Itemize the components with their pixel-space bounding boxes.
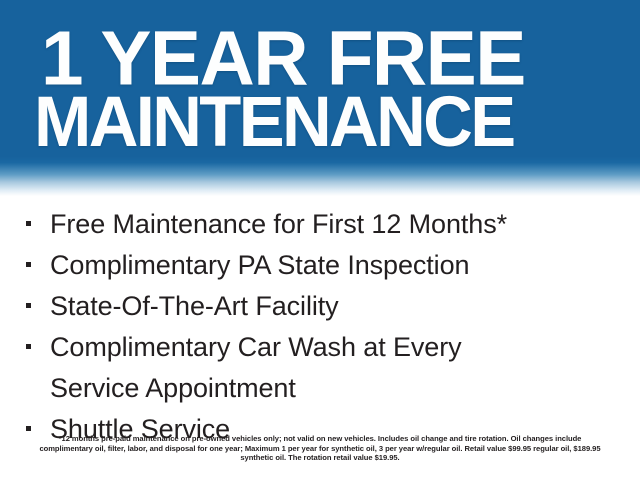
list-item: Free Maintenance for First 12 Months* (0, 206, 640, 242)
bullet-square-icon (26, 221, 31, 226)
headline-line-2: MAINTENANCE (34, 86, 514, 157)
advertisement-card: 1 YEAR FREE MAINTENANCE Free Maintenance… (0, 0, 640, 480)
list-item-label: Service Appointment (50, 370, 640, 406)
bullet-square-icon (26, 303, 31, 308)
bullet-square-icon (26, 262, 31, 267)
list-item-continuation: Service Appointment (0, 370, 640, 406)
banner-text-block: 1 YEAR FREE MAINTENANCE (0, 0, 640, 165)
list-item-label: Complimentary PA State Inspection (50, 247, 640, 283)
list-item-label: Free Maintenance for First 12 Months* (50, 206, 640, 242)
list-item: State-Of-The-Art Facility (0, 288, 640, 324)
bullet-square-icon (26, 426, 31, 431)
disclaimer-text: *12 months pre-paid maintenance on pre-o… (38, 434, 602, 463)
list-item-label: State-Of-The-Art Facility (50, 288, 640, 324)
header-banner: 1 YEAR FREE MAINTENANCE (0, 0, 640, 196)
bullet-square-icon (26, 344, 31, 349)
list-item-label: Complimentary Car Wash at Every (50, 329, 640, 365)
bullet-square-icon-placeholder (26, 385, 31, 390)
offer-list: Free Maintenance for First 12 Months* Co… (0, 206, 640, 452)
list-item: Complimentary Car Wash at Every (0, 329, 640, 365)
list-item: Complimentary PA State Inspection (0, 247, 640, 283)
